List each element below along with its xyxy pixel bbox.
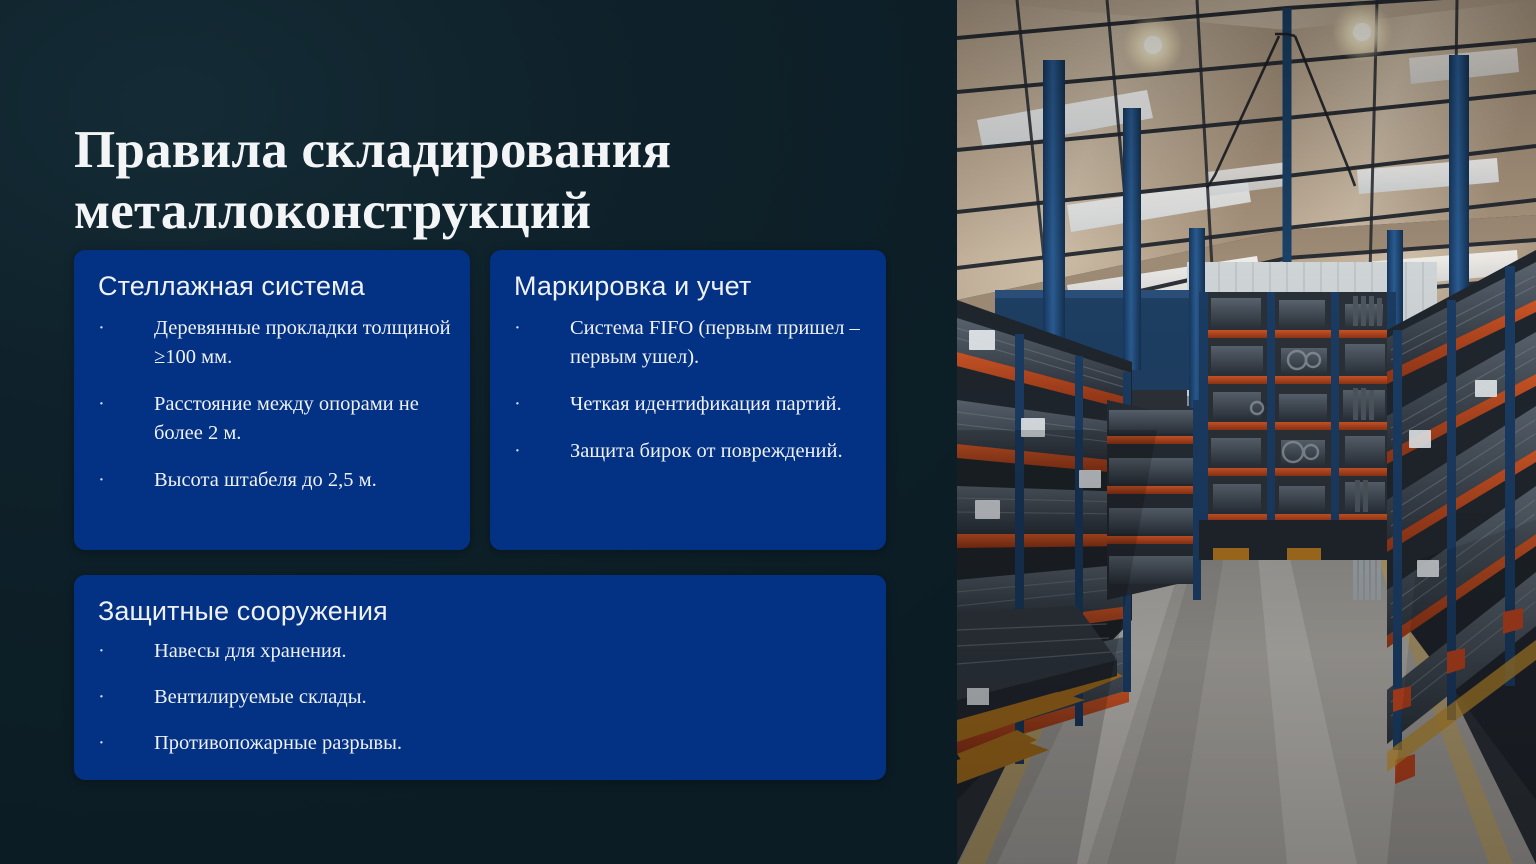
list-item-label: Четкая идентификация партий. (570, 393, 842, 415)
list-item: · Высота штабеля до 2,5 м. (98, 466, 454, 495)
list-item: · Четкая идентификация партий. (514, 390, 870, 419)
bullet-dot-icon: · (514, 437, 538, 466)
slide: Правила складирования металлоконструкций… (0, 0, 1536, 864)
bullet-dot-icon: · (514, 390, 538, 419)
list-item-label: Защита бирок от повреждений. (570, 440, 843, 462)
list-item: · Противопожарные разрывы. (98, 729, 870, 758)
list-item-label: Расстояние между опорами не более 2 м. (154, 393, 419, 444)
card-rack-system: Стеллажная система · Деревянные прокладк… (74, 250, 470, 550)
list-item-label: Навесы для хранения. (154, 640, 346, 662)
card-heading: Стеллажная система (98, 270, 452, 302)
warehouse-photo (957, 0, 1536, 864)
list-item-label: Высота штабеля до 2,5 м. (154, 469, 377, 491)
bullet-dot-icon: · (98, 390, 122, 419)
bullet-dot-icon: · (98, 314, 122, 343)
bullet-dot-icon: · (514, 314, 538, 343)
page-title: Правила складирования металлоконструкций (74, 120, 894, 243)
list-item: · Защита бирок от повреждений. (514, 437, 870, 466)
list-item-label: Вентилируемые склады. (154, 686, 367, 708)
list-item: · Система FIFO (первым пришел – первым у… (514, 314, 870, 372)
list-item: · Расстояние между опорами не более 2 м. (98, 390, 454, 448)
bullet-dot-icon: · (98, 466, 122, 495)
list-item-label: Система FIFO (первым пришел – первым уше… (570, 317, 860, 368)
list-item-label: Противопожарные разрывы. (154, 732, 402, 754)
warehouse-illustration (957, 0, 1536, 864)
bullet-list: · Деревянные прокладки толщиной ≥100 мм.… (98, 314, 454, 496)
card-heading: Защитные сооружения (98, 595, 868, 627)
card-marking-accounting: Маркировка и учет · Система FIFO (первым… (490, 250, 886, 550)
list-item: · Навесы для хранения. (98, 637, 870, 666)
bullet-dot-icon: · (98, 683, 122, 712)
card-heading: Маркировка и учет (514, 270, 868, 302)
list-item: · Деревянные прокладки толщиной ≥100 мм. (98, 314, 454, 372)
list-item-label: Деревянные прокладки толщиной ≥100 мм. (154, 317, 451, 368)
bullet-dot-icon: · (98, 729, 122, 758)
card-protective-structures: Защитные сооружения · Навесы для хранени… (74, 575, 886, 780)
bullet-list: · Система FIFO (первым пришел – первым у… (514, 314, 870, 466)
bullet-list: · Навесы для хранения. · Вентилируемые с… (98, 637, 870, 775)
bullet-dot-icon: · (98, 637, 122, 666)
list-item: · Вентилируемые склады. (98, 683, 870, 712)
